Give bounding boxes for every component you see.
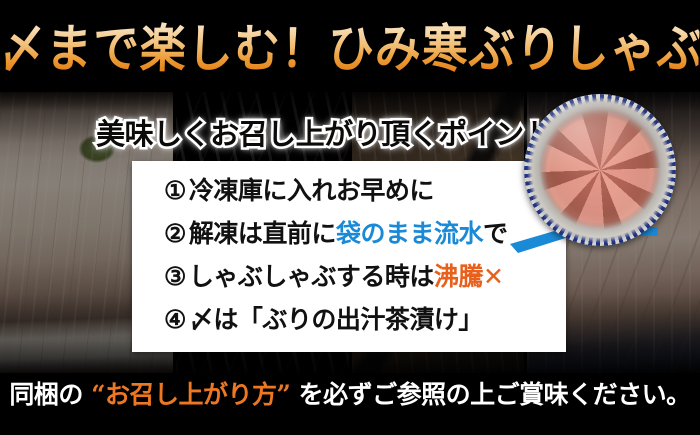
footer-after: を必ずご参照の上ご賞味ください。 [290, 380, 690, 409]
point-number: ④ [164, 305, 186, 334]
point-row: ①冷凍庫に入れお早めに [132, 169, 566, 212]
point-text-segment: 袋のまま流水 [336, 219, 483, 248]
point-text-segment: 冷凍庫に入れお早めに [189, 176, 434, 205]
main-title: 〆まで楽しむ！ひみ寒ぶりしゃぶ [0, 14, 700, 83]
point-text-segment: で [483, 219, 508, 248]
point-text-segment: 解凍は直前に [189, 219, 336, 248]
point-row: ③しゃぶしゃぶする時は沸騰✕ [132, 255, 566, 298]
point-text-segment: 〆は「ぶりの出汁茶漬け」 [189, 305, 483, 334]
points-list: ①冷凍庫に入れお早めに②解凍は直前に袋のまま流水で③しゃぶしゃぶする時は沸騰✕④… [132, 169, 566, 341]
point-text-segment: 沸騰 [434, 262, 483, 291]
footer-text: 同梱の “お召し上がり方” を必ずご参照の上ご賞味ください。 [0, 378, 700, 412]
point-number: ① [164, 176, 186, 205]
inset-gloss [524, 94, 676, 246]
point-number: ② [164, 219, 186, 248]
point-text-segment: ✕ [483, 262, 503, 291]
headline-lead: 美味しくお召し上がり頂くポイント [96, 117, 552, 151]
point-row: ②解凍は直前に袋のまま流水で [132, 212, 566, 255]
points-panel: ①冷凍庫に入れお早めに②解凍は直前に袋のまま流水で③しゃぶしゃぶする時は沸騰✕④… [132, 161, 566, 352]
inset-dish-photo [524, 94, 676, 246]
point-text-segment: しゃぶしゃぶする時は [189, 262, 434, 291]
point-row: ④〆は「ぶりの出汁茶漬け」 [132, 298, 566, 341]
footer-before: 同梱の [9, 380, 91, 409]
promo-banner: 〆まで楽しむ！ひみ寒ぶりしゃぶ 美味しくお召し上がり頂くポイント4つ ①冷凍庫に… [0, 0, 700, 435]
point-number: ③ [164, 262, 186, 291]
footer-quoted: “お召し上がり方” [91, 380, 290, 409]
